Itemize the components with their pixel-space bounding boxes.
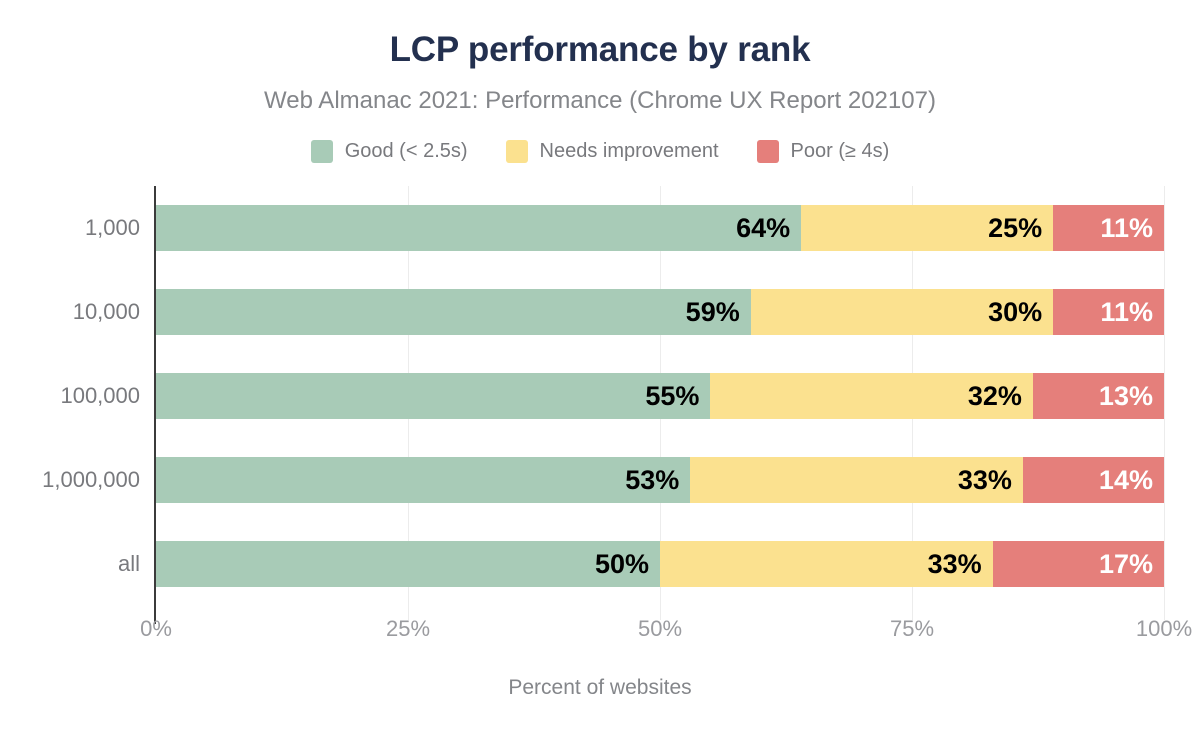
- bar-segment[interactable]: 55%: [156, 373, 710, 419]
- legend-label: Poor (≥ 4s): [791, 140, 890, 163]
- bar-segment[interactable]: 32%: [710, 373, 1033, 419]
- plot-area: 64%25%11%59%30%11%55%32%13%53%33%14%50%3…: [156, 186, 1164, 606]
- y-axis-label: 1,000: [0, 205, 140, 251]
- bar-value-label: 50%: [595, 551, 660, 578]
- bar-row: 55%32%13%: [156, 373, 1164, 419]
- y-axis-label: 10,000: [0, 289, 140, 335]
- legend-label: Needs improvement: [540, 140, 719, 163]
- bar-segment[interactable]: 25%: [801, 205, 1053, 251]
- bar-value-label: 59%: [686, 299, 751, 326]
- chart-container: LCP performance by rank Web Almanac 2021…: [0, 0, 1200, 742]
- x-axis-tick-label: 75%: [890, 616, 934, 642]
- bar-value-label: 30%: [988, 299, 1053, 326]
- y-axis-label: all: [0, 541, 140, 587]
- bar-value-label: 64%: [736, 215, 801, 242]
- chart-subtitle: Web Almanac 2021: Performance (Chrome UX…: [0, 87, 1200, 115]
- legend-swatch-icon: [757, 140, 779, 163]
- x-axis-tick-label: 50%: [638, 616, 682, 642]
- bar-value-label: 33%: [928, 551, 993, 578]
- legend-item[interactable]: Needs improvement: [506, 140, 719, 163]
- bar-segment[interactable]: 59%: [156, 289, 751, 335]
- bar-segment[interactable]: 33%: [660, 541, 993, 587]
- bar-segment[interactable]: 17%: [993, 541, 1164, 587]
- bar-row: 53%33%14%: [156, 457, 1164, 503]
- y-axis-label: 100,000: [0, 373, 140, 419]
- legend-item[interactable]: Good (< 2.5s): [311, 140, 468, 163]
- bar-value-label: 13%: [1099, 383, 1164, 410]
- x-axis-tick-label: 25%: [386, 616, 430, 642]
- bar-value-label: 55%: [645, 383, 710, 410]
- bar-value-label: 33%: [958, 467, 1023, 494]
- bar-row: 50%33%17%: [156, 541, 1164, 587]
- bar-segment[interactable]: 30%: [751, 289, 1053, 335]
- bar-row: 64%25%11%: [156, 205, 1164, 251]
- y-axis-label: 1,000,000: [0, 457, 140, 503]
- bar-value-label: 14%: [1099, 467, 1164, 494]
- bar-segment[interactable]: 64%: [156, 205, 801, 251]
- bar-segment[interactable]: 50%: [156, 541, 660, 587]
- legend-label: Good (< 2.5s): [345, 140, 468, 163]
- gridline: [1164, 186, 1165, 606]
- bar-segment[interactable]: 53%: [156, 457, 690, 503]
- legend-swatch-icon: [311, 140, 333, 163]
- bar-value-label: 11%: [1100, 299, 1164, 326]
- chart-title: LCP performance by rank: [0, 30, 1200, 70]
- bar-segment[interactable]: 11%: [1053, 205, 1164, 251]
- bar-value-label: 25%: [988, 215, 1053, 242]
- bar-segment[interactable]: 13%: [1033, 373, 1164, 419]
- bar-value-label: 32%: [968, 383, 1033, 410]
- chart-legend: Good (< 2.5s)Needs improvementPoor (≥ 4s…: [0, 140, 1200, 163]
- bar-row: 59%30%11%: [156, 289, 1164, 335]
- legend-item[interactable]: Poor (≥ 4s): [757, 140, 890, 163]
- bar-value-label: 17%: [1099, 551, 1164, 578]
- x-axis-tick-label: 100%: [1136, 616, 1192, 642]
- bar-segment[interactable]: 14%: [1023, 457, 1164, 503]
- bar-segment[interactable]: 33%: [690, 457, 1023, 503]
- x-axis-tick-label: 0%: [140, 616, 172, 642]
- bar-value-label: 11%: [1100, 215, 1164, 242]
- x-axis-title: Percent of websites: [0, 676, 1200, 700]
- bar-segment[interactable]: 11%: [1053, 289, 1164, 335]
- bar-value-label: 53%: [625, 467, 690, 494]
- legend-swatch-icon: [506, 140, 528, 163]
